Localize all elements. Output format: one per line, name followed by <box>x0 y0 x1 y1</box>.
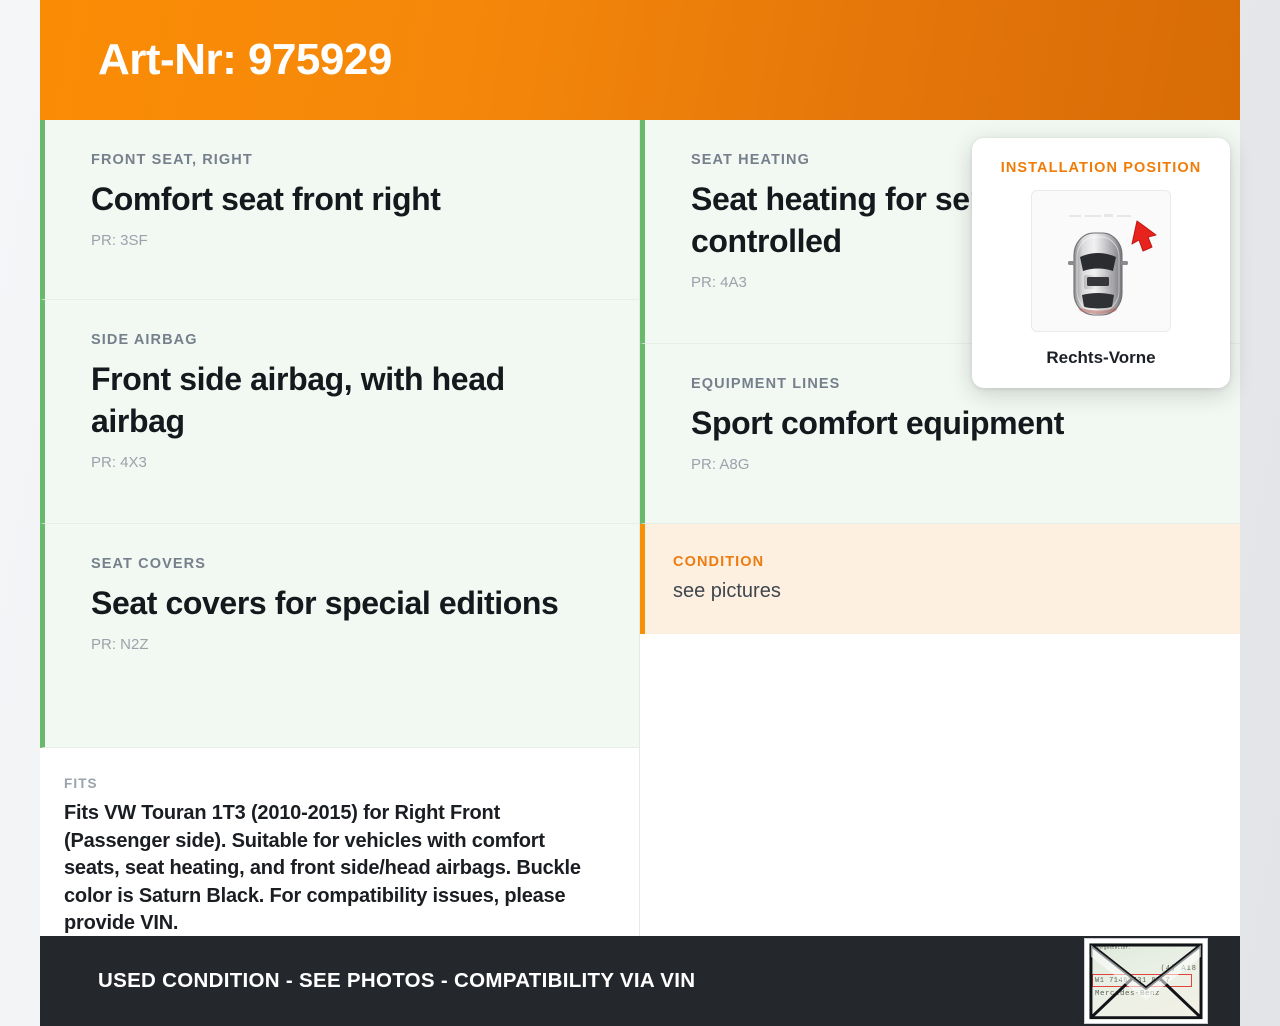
spec-card-front-seat-right: FRONT SEAT, RIGHT Comfort seat front rig… <box>40 120 639 300</box>
fits-label: FITS <box>64 776 599 791</box>
spec-pr-code: PR: 4X3 <box>91 454 593 471</box>
condition-card: CONDITION see pictures <box>640 524 1240 634</box>
spec-label: SEAT COVERS <box>91 556 593 572</box>
footer-notice: USED CONDITION - SEE PHOTOS - COMPATIBIL… <box>98 969 695 993</box>
page-title: Art-Nr: 975929 <box>98 38 392 82</box>
diagram-smudge-text <box>1069 214 1131 217</box>
vin-envelope-badge[interactable]: Fahrgestellnr. (4) A18 W1 71463J31 8R 7 … <box>1084 938 1208 1024</box>
car-body <box>1068 233 1128 315</box>
spec-grid: FRONT SEAT, RIGHT Comfort seat front rig… <box>40 120 1240 936</box>
spec-pr-code: PR: N2Z <box>91 636 593 653</box>
fits-block: FITS Fits VW Touran 1T3 (2010-2015) for … <box>40 748 639 966</box>
installation-position-title: INSTALLATION POSITION <box>992 160 1210 176</box>
installation-position-caption: Rechts-Vorne <box>992 348 1210 368</box>
fits-text: Fits VW Touran 1T3 (2010-2015) for Right… <box>64 800 599 938</box>
spec-value: Front side airbag, with head airbag <box>91 358 593 442</box>
spec-value: Comfort seat front right <box>91 178 593 220</box>
car-top-view-icon <box>1032 191 1172 333</box>
spec-value: Sport comfort equipment <box>691 402 1194 444</box>
spec-card-side-airbag: SIDE AIRBAG Front side airbag, with head… <box>40 300 639 524</box>
spec-label: SIDE AIRBAG <box>91 332 593 348</box>
page-header: Art-Nr: 975929 <box>40 0 1240 120</box>
condition-value: see pictures <box>673 578 1194 604</box>
red-arrow-icon <box>1132 221 1156 251</box>
spec-value: Seat covers for special editions <box>91 582 593 624</box>
page-footer: USED CONDITION - SEE PHOTOS - COMPATIBIL… <box>40 936 1240 1026</box>
right-column-filler <box>640 634 1240 936</box>
envelope-icon <box>1089 943 1203 1020</box>
spec-pr-code: PR: A8G <box>691 456 1194 473</box>
spec-column-left: FRONT SEAT, RIGHT Comfort seat front rig… <box>40 120 640 936</box>
car-diagram <box>1031 190 1171 332</box>
product-sheet: Art-Nr: 975929 FRONT SEAT, RIGHT Comfort… <box>40 0 1240 1026</box>
installation-position-card[interactable]: INSTALLATION POSITION <box>972 138 1230 388</box>
spec-label: FRONT SEAT, RIGHT <box>91 152 593 168</box>
condition-label: CONDITION <box>673 554 1194 570</box>
spec-pr-code: PR: 3SF <box>91 232 593 249</box>
spec-card-seat-covers: SEAT COVERS Seat covers for special edit… <box>40 524 639 748</box>
